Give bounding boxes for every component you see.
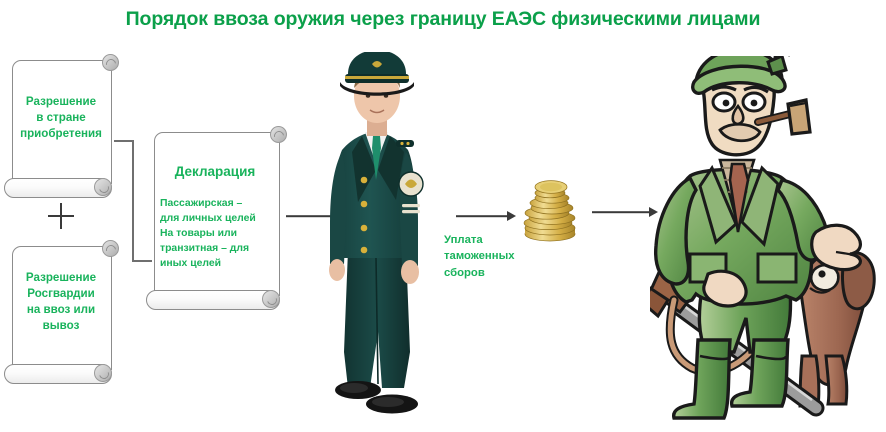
scroll-roll-knob-icon — [94, 364, 112, 382]
scroll-bottom-roll — [4, 178, 112, 198]
declaration-line: иных целей — [160, 256, 276, 271]
scroll-curl-icon — [270, 126, 287, 143]
scroll-bottom-roll — [146, 290, 280, 310]
scroll-declaration: Декларация Пассажирская – для личных цел… — [146, 124, 288, 312]
scroll-line: в стране — [14, 110, 108, 126]
hunter-figure — [650, 56, 884, 422]
customs-fee-line: таможенных — [444, 248, 548, 264]
arrow-head-icon — [507, 211, 516, 221]
diagram-canvas: Порядок ввоза оружия через границу ЕАЭС … — [0, 0, 886, 432]
scroll-roll-knob-icon — [262, 290, 280, 308]
scroll-line: Росгвардии — [14, 286, 108, 302]
customs-officer-illustration — [318, 52, 442, 424]
declaration-line: Пассажирская – — [160, 196, 276, 211]
declaration-line: для личных целей — [160, 211, 276, 226]
arrow-officer-to-coins — [456, 210, 516, 222]
customs-officer-figure — [318, 52, 442, 424]
scroll-curl-icon — [102, 54, 119, 71]
scroll-bottom-roll — [4, 364, 112, 384]
plus-sign-icon — [48, 203, 74, 229]
merge-bracket-connector — [110, 140, 150, 262]
scroll-permit-rosgvardia: Разрешение Росгвардии на ввоз или вывоз — [4, 238, 120, 386]
scroll-permit-rosgvardia-text: Разрешение Росгвардии на ввоз или вывоз — [14, 270, 108, 334]
page-title: Порядок ввоза оружия через границу ЕАЭС … — [0, 8, 886, 31]
arrow-coins-to-hunter — [592, 206, 658, 218]
scroll-permit-country-text: Разрешение в стране приобретения — [14, 94, 108, 142]
scroll-line: вывоз — [14, 318, 108, 334]
scroll-permit-country: Разрешение в стране приобретения — [4, 52, 120, 200]
declaration-line: транзитная – для — [160, 241, 276, 256]
arrow-shaft — [592, 211, 650, 213]
bracket-top-arm — [114, 140, 134, 142]
coin-stack-icon — [522, 178, 580, 242]
coin-stack-illustration — [522, 178, 580, 242]
customs-fee-line: сборов — [444, 265, 548, 281]
arrow-shaft — [456, 215, 508, 217]
declaration-line: На товары или — [160, 226, 276, 241]
declaration-heading: Декларация — [154, 164, 276, 179]
scroll-line: Разрешение — [14, 270, 108, 286]
scroll-line: на ввоз или — [14, 302, 108, 318]
bracket-vertical — [132, 140, 134, 262]
scroll-line: Разрешение — [14, 94, 108, 110]
declaration-body: Пассажирская – для личных целей На товар… — [160, 196, 276, 271]
hunter-illustration — [650, 56, 884, 422]
scroll-line: приобретения — [14, 126, 108, 142]
